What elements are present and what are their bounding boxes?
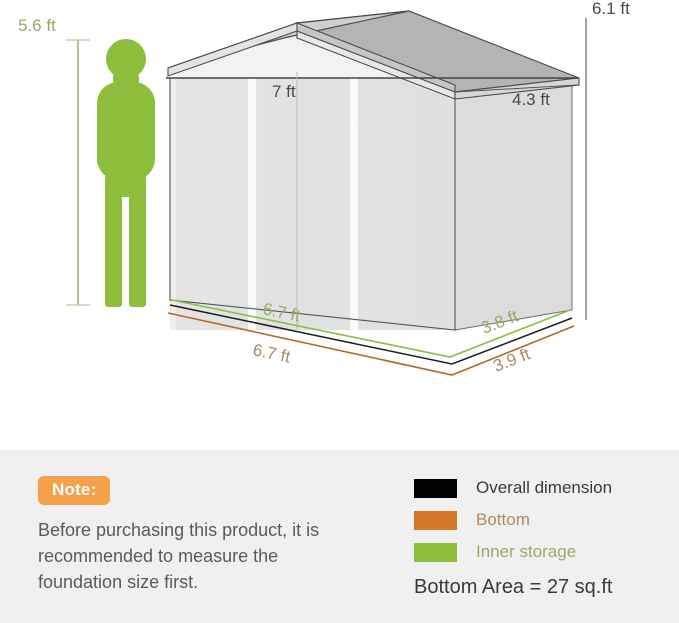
shed-front-wall [170,78,455,330]
bottom-area-text: Bottom Area = 27 sq.ft [414,576,612,599]
overall-width-label: 7 ft [272,82,296,101]
shed-side-wall [455,85,572,330]
front-panel-seam-right [350,78,358,330]
shed-diagram: 5.6 ft 6.1 ft 7 ft 4.3 ft 6.7 ft [0,0,679,450]
front-panel-edge-left [170,78,176,330]
legend-row-bottom: Bottom [414,504,612,536]
bottom-width-label: 6.7 ft [251,340,292,366]
footer-panel: Note: Before purchasing this product, it… [0,450,679,623]
legend-row-inner-storage: Inner storage [414,536,612,568]
overall-height-label: 6.1 ft [592,0,630,18]
product-dimension-infographic: 5.6 ft 6.1 ft 7 ft 4.3 ft 6.7 ft [0,0,679,623]
legend-swatch-bottom [414,511,457,530]
front-panel-seam-left [248,78,256,330]
note-text: Before purchasing this product, it is re… [38,517,338,595]
legend-row-overall: Overall dimension [414,472,612,504]
legend-swatch-overall [414,479,457,498]
legend-swatch-inner-storage [414,543,457,562]
note-badge: Note: [38,476,110,505]
human-height-label: 5.6 ft [18,16,56,35]
note-block: Note: Before purchasing this product, it… [38,476,358,595]
legend: Overall dimension Bottom Inner storage B… [414,472,612,599]
legend-label-overall: Overall dimension [476,478,612,498]
bottom-depth-label: 3.9 ft [491,344,533,375]
diagram-area: 5.6 ft 6.1 ft 7 ft 4.3 ft 6.7 ft [0,0,679,450]
person-silhouette [97,39,155,307]
legend-label-inner-storage: Inner storage [476,542,576,562]
side-height-label: 4.3 ft [512,90,550,109]
legend-label-bottom: Bottom [476,510,530,530]
